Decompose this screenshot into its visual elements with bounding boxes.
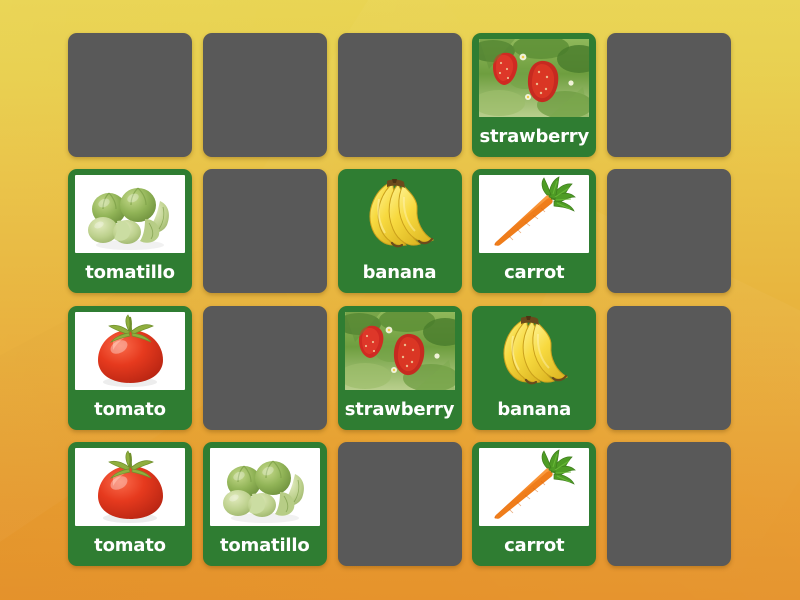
card-revealed-strawberry-r3c3[interactable]: strawberry	[338, 306, 462, 430]
strawberry-image	[345, 312, 455, 390]
card-revealed-tomatillo-r4c2[interactable]: tomatillo	[203, 442, 327, 566]
card-face-down-r1c1[interactable]	[68, 33, 192, 157]
tomato-icon	[75, 448, 185, 526]
card-face-down-r3c2[interactable]	[203, 306, 327, 430]
card-face-down-r4c3[interactable]	[338, 442, 462, 566]
tomatillo-image	[75, 175, 185, 253]
card-label: tomatillo	[210, 526, 320, 566]
card-revealed-tomato-r3c1[interactable]: tomato	[68, 306, 192, 430]
tomatillo-icon	[75, 175, 185, 253]
card-face-down-r4c5[interactable]	[607, 442, 731, 566]
card-revealed-carrot-r2c4[interactable]: carrot	[472, 169, 596, 293]
strawberry-icon	[479, 39, 589, 117]
carrot-icon	[479, 175, 589, 253]
banana-icon	[479, 312, 589, 390]
card-face-down-r1c2[interactable]	[203, 33, 327, 157]
card-label: strawberry	[479, 117, 589, 157]
card-face-down-r2c5[interactable]	[607, 169, 731, 293]
tomatillo-icon	[210, 448, 320, 526]
card-face-down-r1c3[interactable]	[338, 33, 462, 157]
banana-icon	[345, 175, 455, 253]
banana-image	[479, 312, 589, 390]
card-label: strawberry	[345, 390, 455, 430]
card-label: tomato	[75, 390, 185, 430]
tomato-image	[75, 448, 185, 526]
card-label: tomatillo	[75, 253, 185, 293]
card-grid: strawberry	[68, 33, 731, 566]
card-label: banana	[479, 390, 589, 430]
card-revealed-tomatillo-r2c1[interactable]: tomatillo	[68, 169, 192, 293]
card-revealed-strawberry-r1c4[interactable]: strawberry	[472, 33, 596, 157]
card-face-down-r3c5[interactable]	[607, 306, 731, 430]
tomato-image	[75, 312, 185, 390]
card-face-down-r2c2[interactable]	[203, 169, 327, 293]
card-label: carrot	[479, 253, 589, 293]
banana-image	[345, 175, 455, 253]
carrot-icon	[479, 448, 589, 526]
card-face-down-r1c5[interactable]	[607, 33, 731, 157]
card-label: tomato	[75, 526, 185, 566]
carrot-image	[479, 175, 589, 253]
card-revealed-banana-r3c4[interactable]: banana	[472, 306, 596, 430]
strawberry-image	[479, 39, 589, 117]
card-label: banana	[345, 253, 455, 293]
card-revealed-tomato-r4c1[interactable]: tomato	[68, 442, 192, 566]
tomato-icon	[75, 312, 185, 390]
card-label: carrot	[479, 526, 589, 566]
card-revealed-banana-r2c3[interactable]: banana	[338, 169, 462, 293]
matching-pairs-game-board: strawberry	[0, 0, 800, 600]
card-revealed-carrot-r4c4[interactable]: carrot	[472, 442, 596, 566]
strawberry-icon	[345, 312, 455, 390]
tomatillo-image	[210, 448, 320, 526]
carrot-image	[479, 448, 589, 526]
